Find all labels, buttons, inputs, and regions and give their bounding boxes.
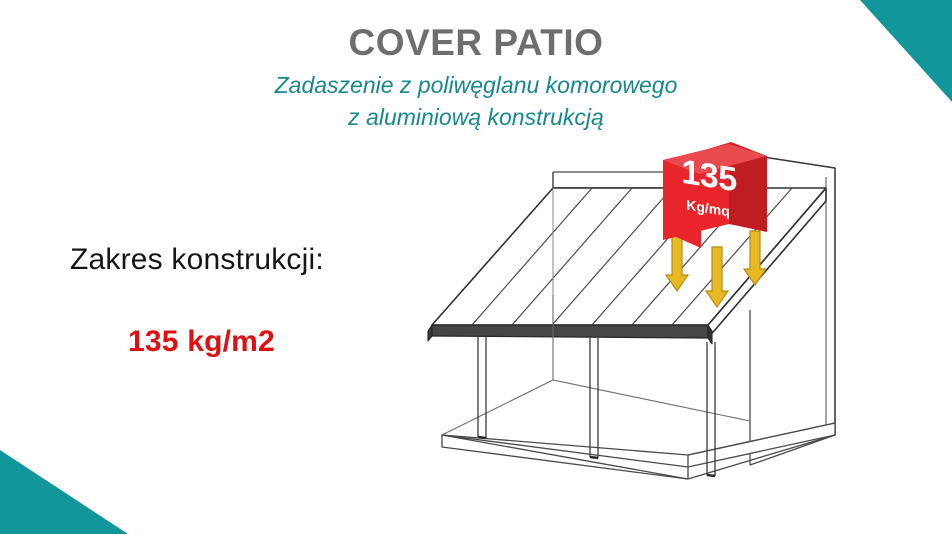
corner-triangle-bottom-left xyxy=(0,450,128,534)
page-title: COVER PATIO xyxy=(0,22,952,64)
subtitle-line-2: z aluminiową konstrukcją xyxy=(0,102,952,134)
subtitle-line-1: Zadaszenie z poliwęglanu komorowego xyxy=(0,70,952,102)
spec-value: 135 kg/m2 xyxy=(128,325,275,359)
load-cube-icon xyxy=(663,140,768,248)
page-subtitle: Zadaszenie z poliwęglanu komorowego z al… xyxy=(0,70,952,133)
spec-label: Zakres konstrukcji: xyxy=(70,243,324,277)
patio-canopy-illustration xyxy=(420,135,880,505)
slide-canvas: COVER PATIO Zadaszenie z poliwęglanu kom… xyxy=(0,0,952,534)
